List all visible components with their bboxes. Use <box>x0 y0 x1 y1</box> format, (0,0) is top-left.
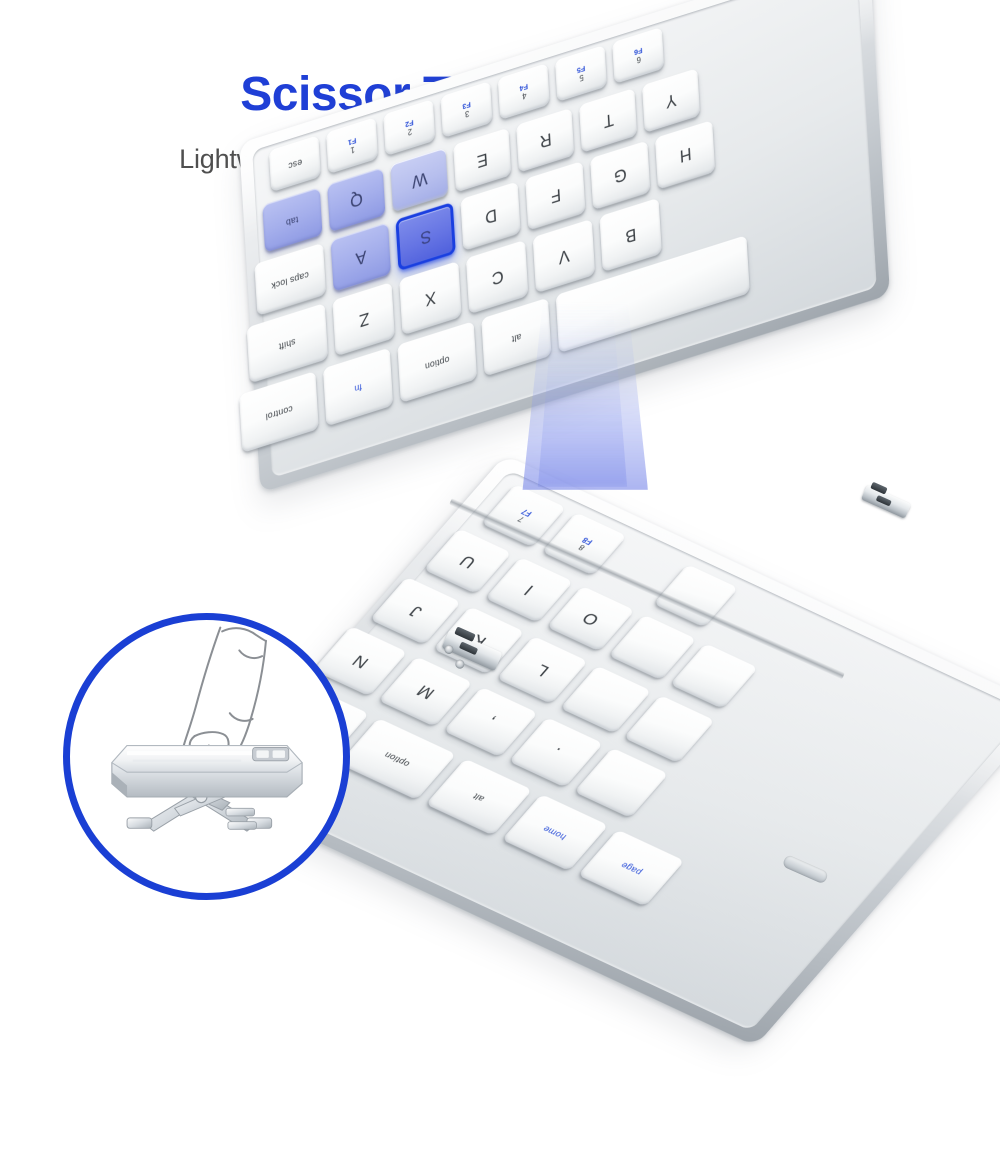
keycap-illustration <box>112 746 302 797</box>
hinge-screw-2 <box>454 658 466 670</box>
scissor-mechanism-inset <box>63 613 350 900</box>
product-marketing-image: Scissor Type Keyboard Lightweight and th… <box>0 0 1000 1000</box>
scissor-mechanism-illustration <box>70 620 343 893</box>
